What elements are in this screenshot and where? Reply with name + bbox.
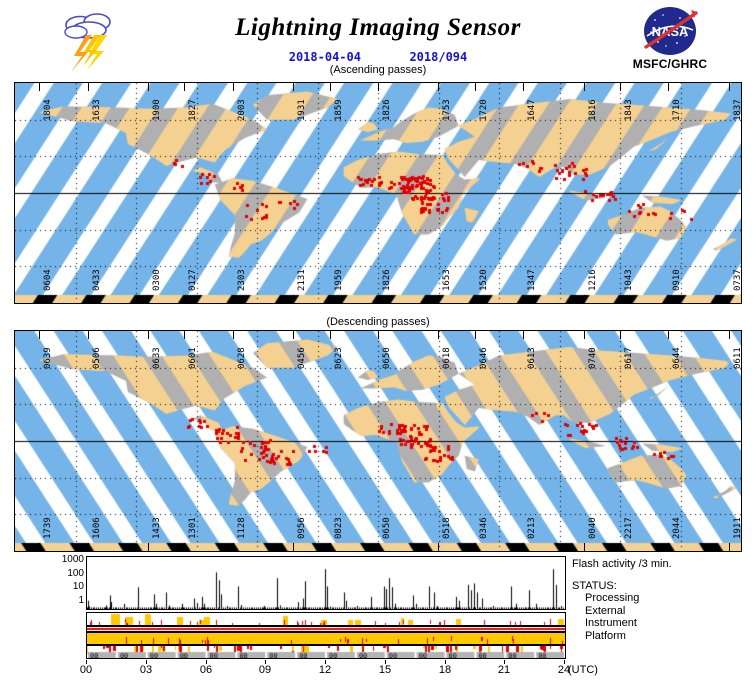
orbit-label-top: 1816 xyxy=(588,99,598,121)
time-axis-label: 09 xyxy=(259,664,271,676)
orbit-tick-top xyxy=(620,83,621,91)
flash-y-tick: 100 xyxy=(44,568,84,579)
orbit-label-bottom: 1347 xyxy=(527,269,537,291)
status-row-instrument[interactable] xyxy=(86,632,566,645)
flash-y-tick: 10 xyxy=(44,581,84,592)
orbit-tick-bottom xyxy=(39,295,40,303)
utc-unit-label: (UTC) xyxy=(568,664,598,676)
descending-passes-map[interactable]: 0639173905061606063314330601130106281128… xyxy=(14,330,742,552)
orbit-label-bottom: 1959 xyxy=(334,269,344,291)
observation-date: 2018-04-04 xyxy=(289,50,361,64)
orbit-tick-top xyxy=(378,331,379,339)
orbit-tick-top xyxy=(729,83,730,91)
status-row-platform[interactable] xyxy=(86,645,566,659)
orbit-label-bottom: 1216 xyxy=(588,269,598,291)
orbit-label-bottom: 0956 xyxy=(297,517,307,539)
orbit-tick-top xyxy=(330,83,331,91)
orbit-label-bottom: 1433 xyxy=(152,517,162,539)
orbit-label-top: 1837 xyxy=(733,99,742,121)
orbit-tick-bottom xyxy=(668,543,669,551)
orbit-label-bottom: 0650 xyxy=(382,517,392,539)
status-row-processing[interactable] xyxy=(86,612,566,626)
orbit-label-top: 1931 xyxy=(297,99,307,121)
orbit-label-top: 1826 xyxy=(382,99,392,121)
orbit-tick-bottom xyxy=(523,295,524,303)
descending-caption: (Descending passes) xyxy=(0,316,756,328)
orbit-label-bottom: 0346 xyxy=(479,517,489,539)
orbit-label-top: 0740 xyxy=(588,347,598,369)
legend-processing: Processing xyxy=(572,592,756,605)
orbit-tick-top xyxy=(148,331,149,339)
orbit-label-top: 0633 xyxy=(152,347,162,369)
orbit-tick-top xyxy=(293,331,294,339)
orbit-label-bottom: 0040 xyxy=(588,517,598,539)
orbit-tick-top xyxy=(184,83,185,91)
orbit-label-top: 0617 xyxy=(624,347,634,369)
orbit-label-top: 2003 xyxy=(237,99,247,121)
orbit-tick-top xyxy=(584,83,585,91)
orbit-tick-top xyxy=(584,331,585,339)
legend-platform: Platform xyxy=(572,630,756,643)
orbit-tick-bottom xyxy=(378,295,379,303)
orbit-tick-top xyxy=(668,83,669,91)
orbit-label-bottom: 0518 xyxy=(442,517,452,539)
orbit-tick-bottom xyxy=(729,543,730,551)
orbit-tick-top xyxy=(378,83,379,91)
page-header: Lightning Imaging Sensor 2018-04-04 2018… xyxy=(0,0,756,78)
orbit-tick-bottom xyxy=(88,295,89,303)
orbit-label-bottom: 1739 xyxy=(43,517,53,539)
orbit-label-top: 1710 xyxy=(672,99,682,121)
processing-status-plot xyxy=(87,613,565,625)
map-canvas-descending[interactable]: 0639173905061606063314330601130106281128… xyxy=(14,330,742,552)
orbit-label-bottom: 1128 xyxy=(237,517,247,539)
orbit-tick-top xyxy=(39,331,40,339)
orbit-tick-bottom xyxy=(729,295,730,303)
orbit-tick-bottom xyxy=(523,543,524,551)
orbit-label-bottom: 0737 xyxy=(733,269,742,291)
orbit-tick-top xyxy=(729,331,730,339)
orbit-label-top: 0618 xyxy=(442,347,452,369)
orbit-label-top: 0644 xyxy=(672,347,682,369)
orbit-label-top: 0639 xyxy=(43,347,53,369)
orbit-tick-bottom xyxy=(293,295,294,303)
instrument-status-plot xyxy=(87,633,565,644)
orbit-tick-bottom xyxy=(88,543,89,551)
orbit-tick-bottom xyxy=(438,295,439,303)
orbit-tick-top xyxy=(330,331,331,339)
orbit-label-top: 1843 xyxy=(624,99,634,121)
orbit-label-top: 0646 xyxy=(479,347,489,369)
time-axis-label: 21 xyxy=(498,664,510,676)
orbit-label-top: 0628 xyxy=(237,347,247,369)
orbit-label-bottom: 2131 xyxy=(297,269,307,291)
orbit-label-bottom: 2303 xyxy=(237,269,247,291)
orbit-label-bottom: 0823 xyxy=(334,517,344,539)
orbit-label-top: 0456 xyxy=(297,347,307,369)
orbit-label-bottom: 0910 xyxy=(672,269,682,291)
orbit-tick-top xyxy=(233,83,234,91)
orbit-tick-bottom xyxy=(438,543,439,551)
orbit-label-bottom: 0433 xyxy=(92,269,102,291)
orbit-label-top: 1753 xyxy=(442,99,452,121)
nasa-meatball-icon: NASA xyxy=(633,6,707,56)
orbit-tick-bottom xyxy=(184,543,185,551)
orbit-label-bottom: 2044 xyxy=(672,517,682,539)
orbit-tick-top xyxy=(438,83,439,91)
orbit-label-top: 0601 xyxy=(188,347,198,369)
time-axis: 000306091215182124 xyxy=(86,660,566,678)
ascending-passes-map[interactable]: 1804060416330433190003001827012720032303… xyxy=(14,82,742,304)
orbit-tick-bottom xyxy=(668,295,669,303)
orbit-label-bottom: 1520 xyxy=(479,269,489,291)
time-axis-label: 18 xyxy=(439,664,451,676)
time-axis-label: 00 xyxy=(80,664,92,676)
legend-external: External xyxy=(572,605,756,618)
orbit-label-top: 1827 xyxy=(188,99,198,121)
orbit-tick-top xyxy=(88,331,89,339)
legend-flash-activity: Flash activity /3 min. xyxy=(572,558,756,571)
orbit-label-top: 0650 xyxy=(382,347,392,369)
orbit-tick-bottom xyxy=(330,543,331,551)
orbit-tick-top xyxy=(620,331,621,339)
orbit-label-bottom: 1826 xyxy=(382,269,392,291)
orbit-tick-bottom xyxy=(233,295,234,303)
flash-y-axis: 1000100101 xyxy=(40,552,84,612)
platform-status-plot xyxy=(87,646,565,658)
orbit-tick-bottom xyxy=(584,543,585,551)
orbit-tick-bottom xyxy=(378,543,379,551)
day-of-year: 2018/094 xyxy=(409,50,467,64)
orbit-tick-top xyxy=(88,83,89,91)
orbit-tick-top xyxy=(475,83,476,91)
time-axis-label: 06 xyxy=(200,664,212,676)
orbit-tick-bottom xyxy=(475,543,476,551)
orbit-label-top: 1859 xyxy=(334,99,344,121)
orbit-tick-bottom xyxy=(620,295,621,303)
orbit-tick-bottom xyxy=(233,543,234,551)
orbit-tick-top xyxy=(233,331,234,339)
orbit-tick-top xyxy=(184,331,185,339)
orbit-tick-bottom xyxy=(475,295,476,303)
time-axis-label: 03 xyxy=(140,664,152,676)
legend-status-title: STATUS: xyxy=(572,580,756,593)
orbit-label-bottom: 1606 xyxy=(92,517,102,539)
orbit-label-bottom: 0127 xyxy=(188,269,198,291)
orbit-tick-bottom xyxy=(148,295,149,303)
orbit-tick-bottom xyxy=(330,295,331,303)
panel-legend: Flash activity /3 min. STATUS: Processin… xyxy=(572,558,756,642)
time-axis-label: 15 xyxy=(379,664,391,676)
flash-activity-chart[interactable] xyxy=(86,556,566,610)
time-axis-label: 12 xyxy=(319,664,331,676)
orbit-tick-bottom xyxy=(620,543,621,551)
flash-y-tick: 1 xyxy=(44,595,84,606)
orbit-tick-top xyxy=(293,83,294,91)
orbit-label-bottom: 1301 xyxy=(188,517,198,539)
org-label: MSFC/GHRC xyxy=(620,57,720,71)
orbit-label-bottom: 0300 xyxy=(152,269,162,291)
orbit-label-bottom: 0604 xyxy=(43,269,53,291)
nasa-logo: NASA MSFC/GHRC xyxy=(620,6,720,74)
orbit-tick-top xyxy=(668,331,669,339)
orbit-tick-top xyxy=(523,83,524,91)
orbit-label-top: 1900 xyxy=(152,99,162,121)
orbit-tick-top xyxy=(438,331,439,339)
orbit-tick-top xyxy=(523,331,524,339)
orbit-label-top: 1633 xyxy=(92,99,102,121)
orbit-tick-bottom xyxy=(39,543,40,551)
orbit-label-top: 0611 xyxy=(733,347,742,369)
orbit-label-bottom: 1653 xyxy=(442,269,452,291)
orbit-label-top: 0623 xyxy=(334,347,344,369)
activity-panel: 1000100101 Flash activity /3 min. STATUS… xyxy=(0,552,756,680)
orbit-label-top: 1720 xyxy=(479,99,489,121)
flash-activity-plot xyxy=(87,557,565,609)
orbit-tick-top xyxy=(148,83,149,91)
orbit-tick-top xyxy=(39,83,40,91)
orbit-label-bottom: 0213 xyxy=(527,517,537,539)
orbit-tick-bottom xyxy=(584,295,585,303)
orbit-tick-top xyxy=(475,331,476,339)
orbit-label-bottom: 1043 xyxy=(624,269,634,291)
orbit-label-top: 0506 xyxy=(92,347,102,369)
orbit-tick-bottom xyxy=(148,543,149,551)
orbit-label-bottom: 2217 xyxy=(624,517,634,539)
orbit-label-top: 0613 xyxy=(527,347,537,369)
orbit-label-top: 1804 xyxy=(43,99,53,121)
external-status-plot xyxy=(87,627,565,631)
map-canvas-ascending[interactable]: 1804060416330433190003001827012720032303… xyxy=(14,82,742,304)
orbit-tick-bottom xyxy=(184,295,185,303)
orbit-tick-bottom xyxy=(293,543,294,551)
flash-y-tick: 1000 xyxy=(44,554,84,565)
orbit-label-bottom: 1911 xyxy=(733,517,742,539)
orbit-label-top: 1647 xyxy=(527,99,537,121)
legend-instrument: Instrument xyxy=(572,617,756,630)
